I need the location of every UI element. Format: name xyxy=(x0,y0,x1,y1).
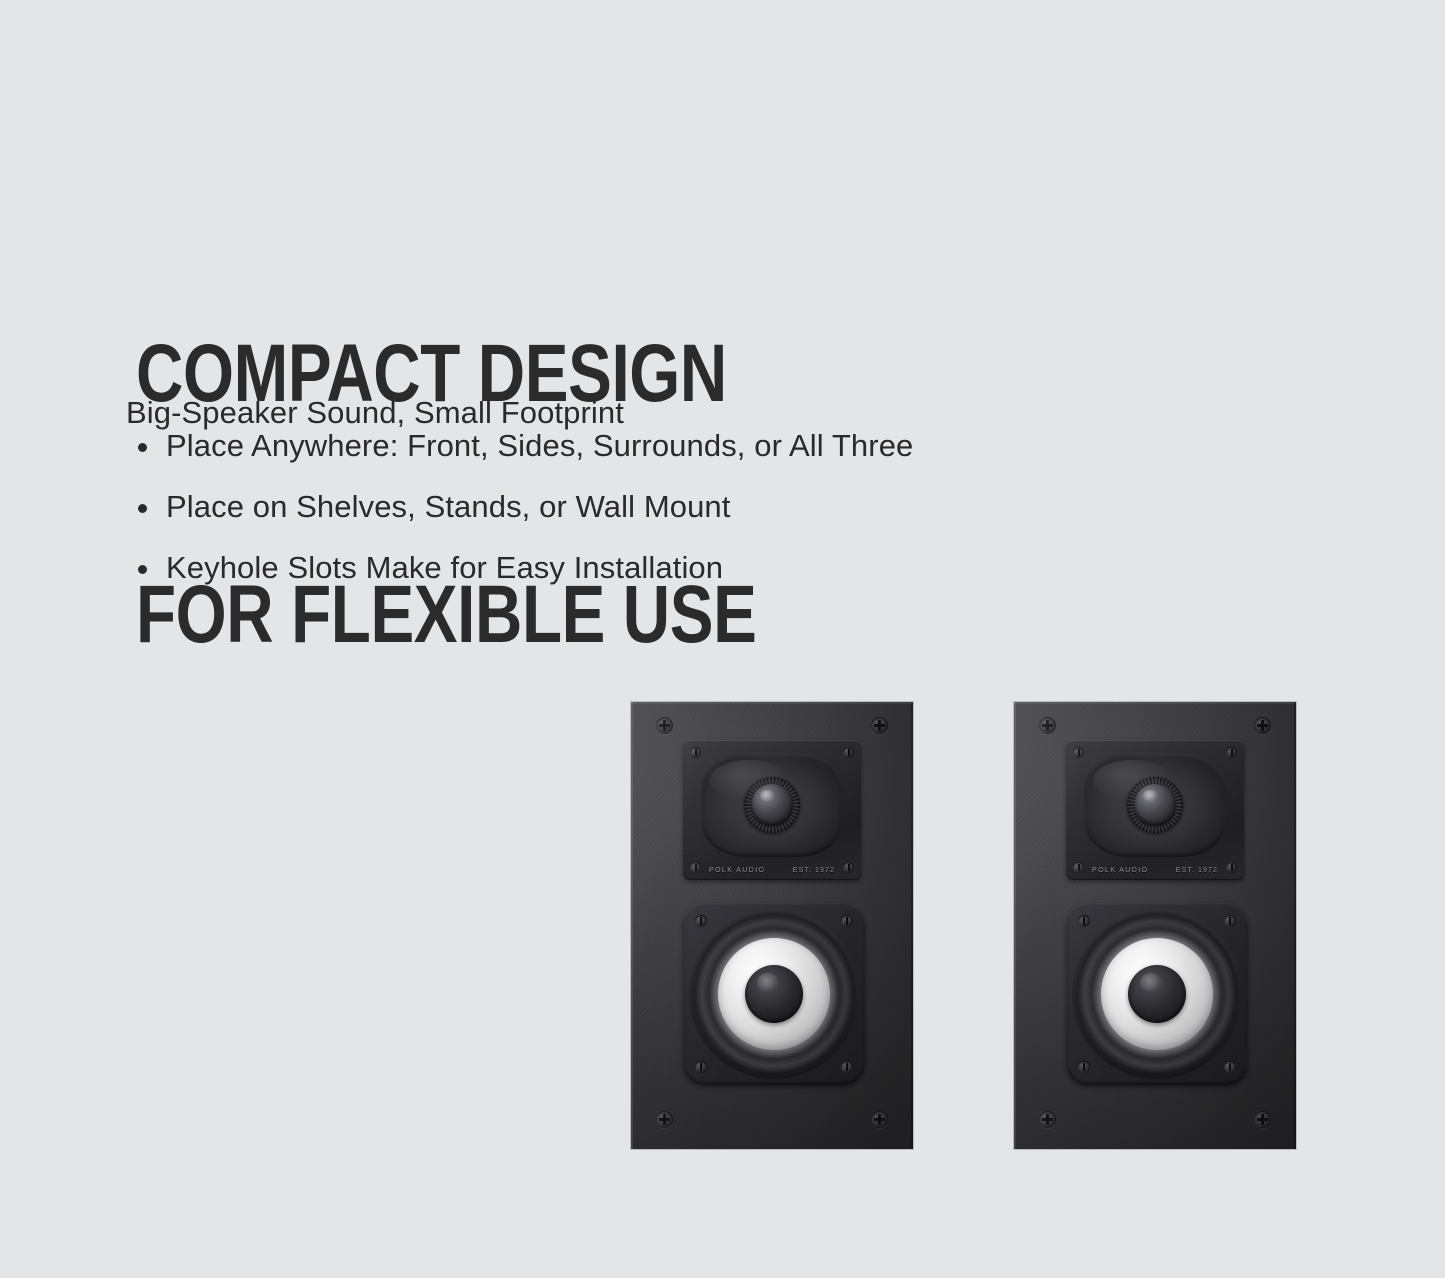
bullet-dot-icon xyxy=(138,504,147,513)
tweeter-dome xyxy=(1134,784,1176,826)
tweeter-faceplate: POLK AUDIO EST. 1972 xyxy=(1066,740,1244,880)
woofer-cone xyxy=(718,938,830,1050)
woofer-dust-cap xyxy=(1128,965,1186,1023)
faceplate-screw-bottom-right xyxy=(843,862,854,873)
woofer-surround xyxy=(1072,909,1242,1079)
woofer-screw-top-left xyxy=(695,915,707,927)
cabinet-screw-bottom-right xyxy=(1254,1111,1271,1128)
product-feature-banner: COMPACT DESIGN FOR FLEXIBLE USE Big-Spea… xyxy=(0,0,1445,1278)
woofer-frame xyxy=(683,903,865,1085)
cabinet-texture xyxy=(1014,702,1296,1149)
woofer-screw-top-left xyxy=(1078,915,1090,927)
cabinet-screw-bottom-left xyxy=(656,1111,673,1128)
established-label: EST. 1972 xyxy=(793,867,835,874)
feature-bullet-list: Place Anywhere: Front, Sides, Surrounds,… xyxy=(126,424,913,607)
woofer-screw-bottom-left xyxy=(1078,1061,1090,1073)
tweeter-waveguide xyxy=(1084,753,1226,857)
cabinet-screw-top-left xyxy=(1039,717,1056,734)
list-item-label: Keyhole Slots Make for Easy Installation xyxy=(166,550,723,585)
woofer-frame xyxy=(1066,903,1248,1085)
faceplate-screw-top-right xyxy=(1226,747,1237,758)
woofer-screw-bottom-left xyxy=(695,1061,707,1073)
woofer-dust-cap xyxy=(745,965,803,1023)
woofer-surround xyxy=(689,909,859,1079)
cabinet-screw-top-right xyxy=(1254,717,1271,734)
faceplate-screw-bottom-left xyxy=(1073,862,1084,873)
list-item: Keyhole Slots Make for Easy Installation xyxy=(126,546,913,589)
established-label: EST. 1972 xyxy=(1176,867,1218,874)
bullet-dot-icon xyxy=(138,443,147,452)
cabinet-screw-bottom-left xyxy=(1039,1111,1056,1128)
speaker-unit-right: POLK AUDIO EST. 1972 xyxy=(1014,702,1296,1149)
woofer-cone xyxy=(1101,938,1213,1050)
brand-label: POLK AUDIO xyxy=(1092,867,1148,874)
woofer-screw-bottom-right xyxy=(1224,1061,1236,1073)
brand-label: POLK AUDIO xyxy=(709,867,765,874)
faceplate-screw-top-left xyxy=(1073,747,1084,758)
list-item: Place on Shelves, Stands, or Wall Mount xyxy=(126,485,913,528)
bullet-dot-icon xyxy=(138,565,147,574)
cabinet-sheen xyxy=(1014,702,1296,1149)
list-item: Place Anywhere: Front, Sides, Surrounds,… xyxy=(126,424,913,467)
faceplate-screw-bottom-left xyxy=(690,862,701,873)
list-item-label: Place Anywhere: Front, Sides, Surrounds,… xyxy=(166,428,913,463)
tweeter-ring xyxy=(1127,777,1183,833)
woofer-screw-bottom-right xyxy=(841,1061,853,1073)
cabinet-screw-bottom-right xyxy=(871,1111,888,1128)
list-item-label: Place on Shelves, Stands, or Wall Mount xyxy=(166,489,730,524)
faceplate-screw-bottom-right xyxy=(1226,862,1237,873)
woofer-screw-top-right xyxy=(841,915,853,927)
woofer-screw-top-right xyxy=(1224,915,1236,927)
